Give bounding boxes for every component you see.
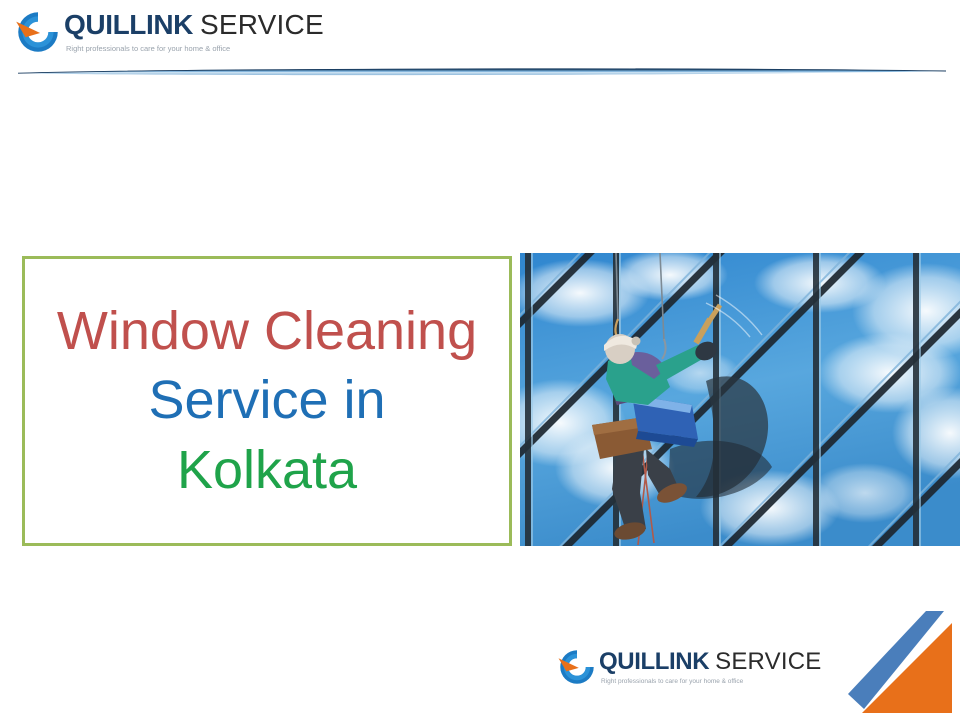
logo-word-primary: QUILLINK [64, 11, 193, 39]
logo-text-block-footer: QUILLINK SERVICE Right professionals to … [599, 650, 821, 685]
title-line-3: Kolkata [177, 436, 357, 505]
corner-accent-graphic [848, 597, 960, 720]
title-card: Window Cleaning Service in Kolkata [22, 256, 512, 546]
logo-word-secondary-footer: SERVICE [715, 650, 821, 674]
logo-wordmark: QUILLINK SERVICE [64, 11, 324, 39]
title-line-1: Window Cleaning [57, 297, 477, 366]
logo-word-secondary: SERVICE [200, 11, 324, 39]
quillink-logo-icon [12, 6, 64, 58]
quillink-logo-icon-footer [555, 645, 599, 689]
header-divider [18, 66, 946, 78]
logo-tagline-footer: Right professionals to care for your hom… [601, 678, 821, 685]
footer-logo: QUILLINK SERVICE Right professionals to … [555, 645, 821, 689]
title-line-2: Service in [148, 366, 385, 435]
logo-wordmark-footer: QUILLINK SERVICE [599, 650, 821, 674]
window-cleaner-photo [520, 253, 960, 546]
header-logo: QUILLINK SERVICE Right professionals to … [12, 6, 324, 58]
logo-word-primary-footer: QUILLINK [599, 650, 709, 674]
logo-tagline: Right professionals to care for your hom… [66, 44, 324, 53]
logo-text-block: QUILLINK SERVICE Right professionals to … [64, 11, 324, 53]
presentation-slide: QUILLINK SERVICE Right professionals to … [0, 0, 960, 720]
